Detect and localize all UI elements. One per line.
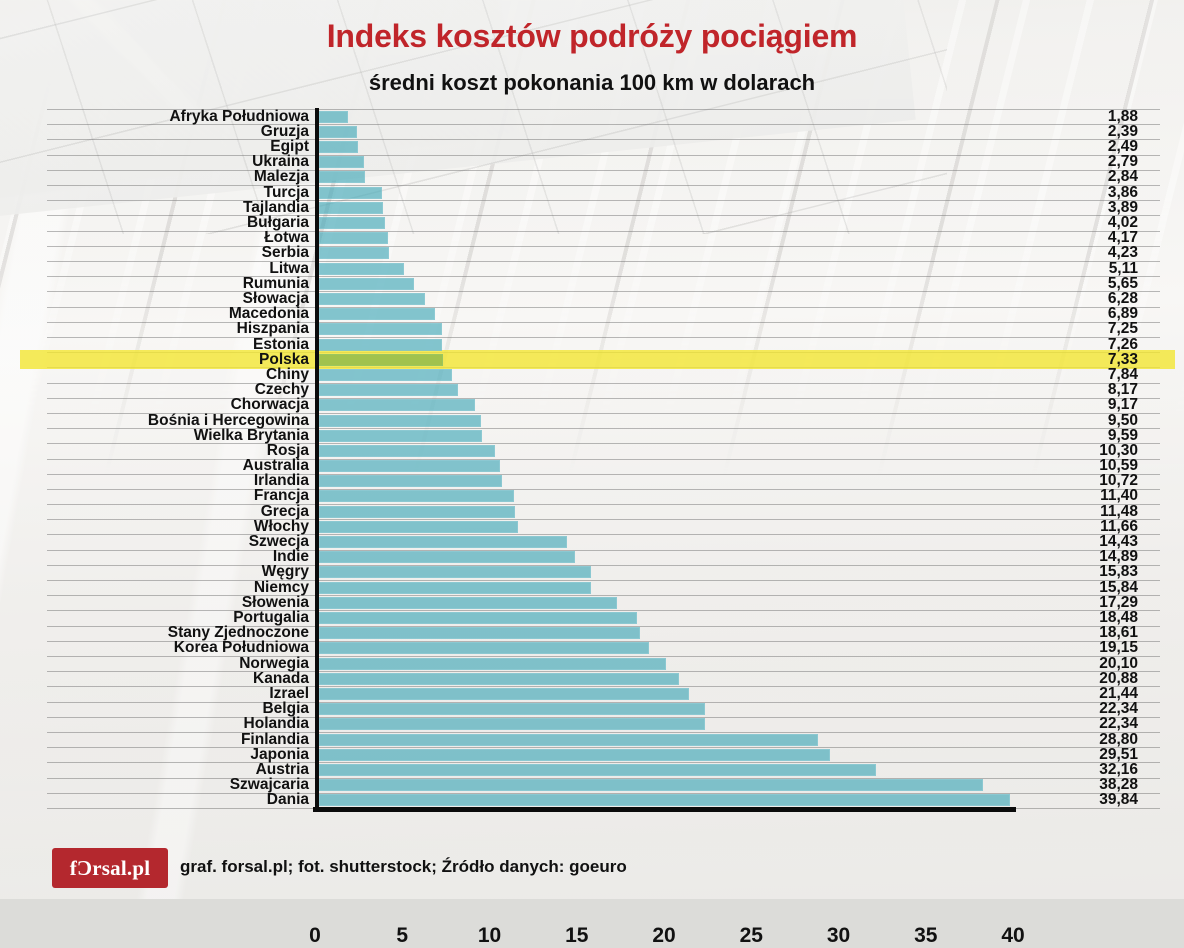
value-label: 19,15 — [1020, 640, 1138, 656]
value-label: 20,88 — [1020, 671, 1138, 687]
bar — [319, 384, 458, 396]
value-label: 10,59 — [1020, 458, 1138, 474]
value-label: 6,89 — [1020, 306, 1138, 322]
bar — [319, 171, 365, 183]
bar — [319, 217, 385, 229]
value-label: 28,80 — [1020, 732, 1138, 748]
bar — [319, 247, 389, 259]
value-label: 5,65 — [1020, 276, 1138, 292]
category-label: Węgry — [47, 564, 309, 580]
category-label: Dania — [47, 792, 309, 808]
bar — [319, 506, 515, 518]
value-label: 2,84 — [1020, 169, 1138, 185]
bar — [319, 551, 575, 563]
bar — [319, 794, 1010, 806]
value-label: 18,61 — [1020, 625, 1138, 641]
bar — [319, 339, 442, 351]
value-label: 6,28 — [1020, 291, 1138, 307]
value-label: 4,17 — [1020, 230, 1138, 246]
bar — [319, 642, 649, 654]
category-label: Litwa — [47, 261, 309, 277]
x-tick-label: 35 — [896, 924, 956, 948]
value-label: 18,48 — [1020, 610, 1138, 626]
x-tick-label: 0 — [285, 924, 345, 948]
bar — [319, 232, 388, 244]
category-label: Turcja — [47, 185, 309, 201]
bar — [319, 612, 637, 624]
y-axis-line — [315, 108, 319, 808]
value-label: 7,33 — [1020, 352, 1138, 368]
bar — [319, 597, 617, 609]
bar — [319, 187, 382, 199]
bar — [319, 475, 502, 487]
chart-container: Indeks kosztów podróży pociągiem średni … — [0, 0, 1184, 899]
category-label: Indie — [47, 549, 309, 565]
value-label: 7,84 — [1020, 367, 1138, 383]
bar — [319, 673, 679, 685]
value-label: 22,34 — [1020, 701, 1138, 717]
forsal-logo[interactable]: fƆrsal.pl — [52, 848, 168, 888]
bar — [319, 278, 414, 290]
value-label: 21,44 — [1020, 686, 1138, 702]
value-label: 9,17 — [1020, 397, 1138, 413]
category-label: Łotwa — [47, 230, 309, 246]
value-label: 3,89 — [1020, 200, 1138, 216]
category-label: Izrael — [47, 686, 309, 702]
x-tick-label: 40 — [983, 924, 1043, 948]
category-label: Malezja — [47, 169, 309, 185]
value-label: 32,16 — [1020, 762, 1138, 778]
category-label: Tajlandia — [47, 200, 309, 216]
value-label: 5,11 — [1020, 261, 1138, 277]
value-label: 9,50 — [1020, 413, 1138, 429]
value-label: 10,72 — [1020, 473, 1138, 489]
bar — [319, 323, 442, 335]
bar-highlighted — [319, 354, 443, 366]
plot-area: Afryka PołudniowaGruzjaEgiptUkrainaMalez… — [0, 108, 1184, 810]
bar — [319, 688, 689, 700]
value-label: 2,79 — [1020, 154, 1138, 170]
value-label: 15,83 — [1020, 564, 1138, 580]
category-label: Chorwacja — [47, 397, 309, 413]
value-label: 7,25 — [1020, 321, 1138, 337]
value-label: 39,84 — [1020, 792, 1138, 808]
x-tick-label: 10 — [460, 924, 520, 948]
category-label: Estonia — [47, 337, 309, 353]
bar — [319, 658, 666, 670]
category-label: Hiszpania — [47, 321, 309, 337]
chart-title: Indeks kosztów podróży pociągiem — [0, 18, 1184, 55]
bar — [319, 566, 591, 578]
bar — [319, 126, 357, 138]
category-label: Australia — [47, 458, 309, 474]
bar — [319, 156, 364, 168]
category-label: Holandia — [47, 716, 309, 732]
credit-line: graf. forsal.pl; fot. shutterstock; Źród… — [180, 857, 627, 877]
x-tick-label: 25 — [721, 924, 781, 948]
category-label: Chiny — [47, 367, 309, 383]
category-label: Egipt — [47, 139, 309, 155]
category-label: Bułgaria — [47, 215, 309, 231]
category-label: Finlandia — [47, 732, 309, 748]
value-label: 20,10 — [1020, 656, 1138, 672]
value-label: 3,86 — [1020, 185, 1138, 201]
category-label: Norwegia — [47, 656, 309, 672]
bar — [319, 263, 404, 275]
value-label: 11,48 — [1020, 504, 1138, 520]
bar — [319, 734, 818, 746]
category-label: Wielka Brytania — [47, 428, 309, 444]
value-label: 8,17 — [1020, 382, 1138, 398]
category-label: Polska — [47, 352, 309, 368]
category-label: Szwajcaria — [47, 777, 309, 793]
bar — [319, 582, 591, 594]
x-tick-label: 20 — [634, 924, 694, 948]
category-label: Irlandia — [47, 473, 309, 489]
x-axis-line — [313, 807, 1016, 812]
category-label: Serbia — [47, 245, 309, 261]
value-label: 7,26 — [1020, 337, 1138, 353]
category-label: Japonia — [47, 747, 309, 763]
bar — [319, 521, 518, 533]
value-label: 1,88 — [1020, 109, 1138, 125]
value-label: 14,43 — [1020, 534, 1138, 550]
category-label: Niemcy — [47, 580, 309, 596]
value-label: 17,29 — [1020, 595, 1138, 611]
bar — [319, 308, 435, 320]
category-label: Bośnia i Hercegowina — [47, 413, 309, 429]
bar — [319, 430, 482, 442]
value-label: 4,23 — [1020, 245, 1138, 261]
bar — [319, 111, 348, 123]
value-label: 38,28 — [1020, 777, 1138, 793]
category-label: Stany Zjednoczone — [47, 625, 309, 641]
x-tick-label: 5 — [372, 924, 432, 948]
category-label: Belgia — [47, 701, 309, 717]
category-label: Macedonia — [47, 306, 309, 322]
bar — [319, 141, 358, 153]
category-label: Austria — [47, 762, 309, 778]
bar — [319, 627, 640, 639]
chart-subtitle: średni koszt pokonania 100 km w dolarach — [0, 70, 1184, 96]
value-label: 29,51 — [1020, 747, 1138, 763]
bar — [319, 460, 500, 472]
category-label: Grecja — [47, 504, 309, 520]
bar — [319, 415, 481, 427]
category-label: Ukraina — [47, 154, 309, 170]
category-label: Włochy — [47, 519, 309, 535]
value-label: 4,02 — [1020, 215, 1138, 231]
category-label: Francja — [47, 488, 309, 504]
bar — [319, 202, 383, 214]
bar — [319, 293, 425, 305]
category-label: Rosja — [47, 443, 309, 459]
category-label: Rumunia — [47, 276, 309, 292]
bar — [319, 718, 705, 730]
value-label: 2,49 — [1020, 139, 1138, 155]
value-label: 11,40 — [1020, 488, 1138, 504]
value-label: 22,34 — [1020, 716, 1138, 732]
value-label: 14,89 — [1020, 549, 1138, 565]
x-tick-label: 15 — [547, 924, 607, 948]
bar — [319, 703, 705, 715]
bar — [319, 779, 983, 791]
value-label: 15,84 — [1020, 580, 1138, 596]
category-label: Kanada — [47, 671, 309, 687]
bar — [319, 369, 452, 381]
value-label: 11,66 — [1020, 519, 1138, 535]
bar — [319, 749, 830, 761]
category-label: Portugalia — [47, 610, 309, 626]
category-label: Korea Południowa — [47, 640, 309, 656]
category-label: Szwecja — [47, 534, 309, 550]
bar — [319, 536, 567, 548]
value-label: 2,39 — [1020, 124, 1138, 140]
bar — [319, 445, 495, 457]
category-label: Słowenia — [47, 595, 309, 611]
x-tick-label: 30 — [809, 924, 869, 948]
category-label: Afryka Południowa — [47, 109, 309, 125]
bar — [319, 764, 876, 776]
category-label: Słowacja — [47, 291, 309, 307]
value-label: 10,30 — [1020, 443, 1138, 459]
bar — [319, 490, 514, 502]
category-label: Czechy — [47, 382, 309, 398]
bar — [319, 399, 475, 411]
category-label: Gruzja — [47, 124, 309, 140]
value-label: 9,59 — [1020, 428, 1138, 444]
